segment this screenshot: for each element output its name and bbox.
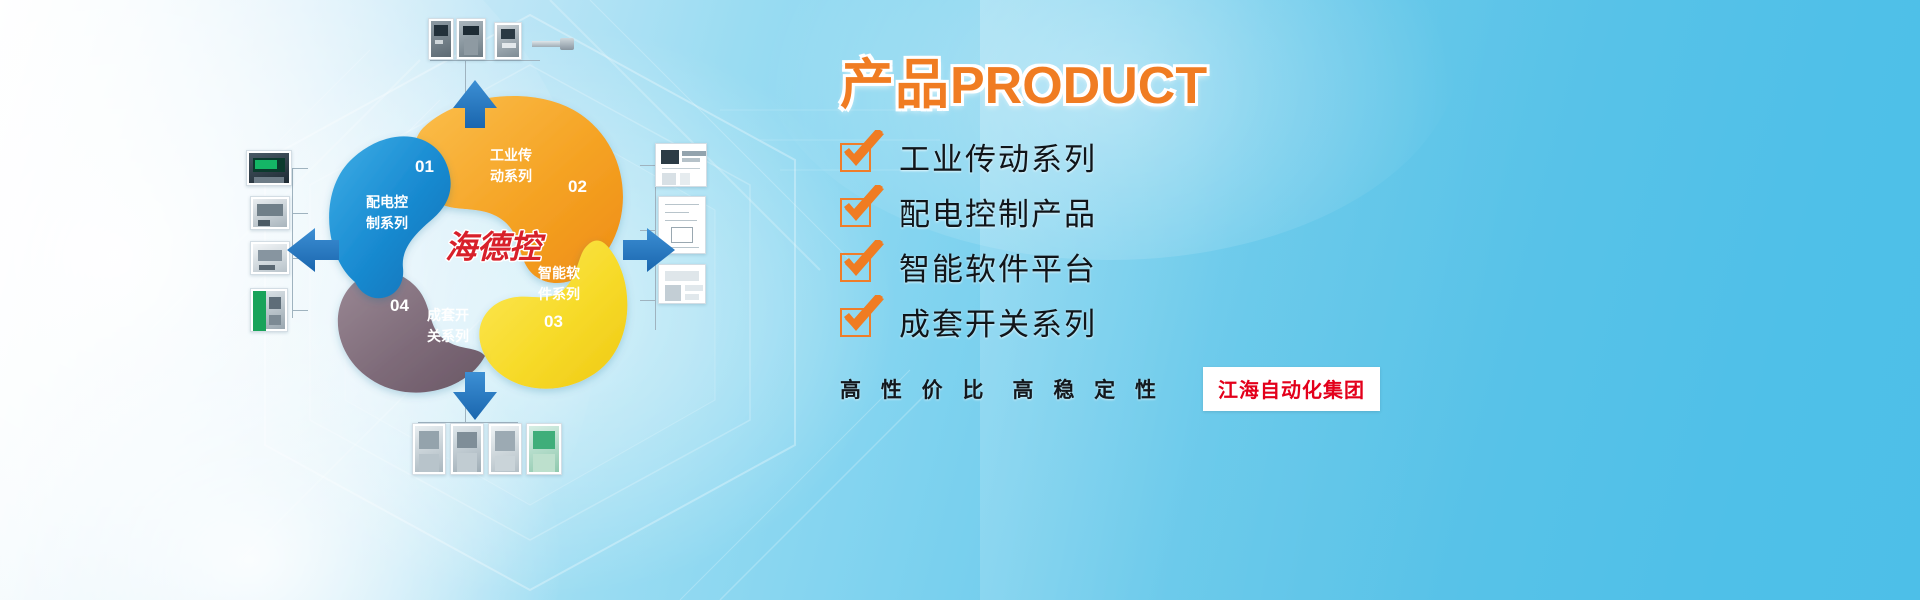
segment-number-03: 03	[544, 312, 563, 331]
right-content-panel: 产品PRODUCT 工业传动系列	[840, 58, 1600, 528]
segment-number-01: 01	[415, 157, 434, 176]
segment-label-02-line2: 件系列	[538, 286, 580, 302]
checkbox-checked-icon	[840, 251, 873, 282]
product-cycle-diagram: 01 02 03 04 工业传 动系列 智能软 件系列 成套开 关系列 配电控 …	[205, 0, 765, 600]
brand-badge: 江海自动化集团	[1203, 367, 1380, 411]
arrow-right-icon	[623, 228, 675, 272]
product-checklist: 工业传动系列 配电控制产品	[840, 132, 1600, 345]
page-title-english: PRODUCT	[950, 57, 1207, 115]
checkbox-checked-icon	[840, 141, 873, 172]
segment-number-04: 04	[390, 296, 409, 315]
segment-label-02-line1: 智能软	[537, 265, 581, 281]
checklist-item-1[interactable]: 工业传动系列	[840, 132, 1600, 180]
segment-label-01-line1: 工业传	[490, 147, 532, 163]
page-title-chinese: 产品	[840, 55, 950, 115]
segment-number-02: 02	[568, 177, 587, 196]
checklist-item-3[interactable]: 智能软件平台	[840, 242, 1600, 290]
tagline-row: 高 性 价 比高 稳 定 性 江海自动化集团	[840, 367, 1600, 411]
tagline-part-1: 高 性 价 比	[840, 379, 991, 402]
checklist-item-label: 成套开关系列	[899, 299, 1097, 344]
segment-label-03-line1: 成套开	[427, 307, 469, 323]
checklist-item-2[interactable]: 配电控制产品	[840, 187, 1600, 235]
checkbox-checked-icon	[840, 196, 873, 227]
page-title: 产品PRODUCT	[840, 58, 1600, 112]
segment-label-03-line2: 关系列	[427, 328, 469, 344]
product-banner: 01 02 03 04 工业传 动系列 智能软 件系列 成套开 关系列 配电控 …	[0, 0, 1920, 600]
tagline-part-2: 高 稳 定 性	[1013, 379, 1164, 402]
segment-label-04-line1: 配电控	[366, 194, 408, 210]
diagram-center-text: 海德控	[445, 229, 546, 265]
tagline-text: 高 性 价 比高 稳 定 性	[840, 374, 1163, 404]
checklist-item-label: 工业传动系列	[899, 134, 1097, 179]
checkbox-checked-icon	[840, 306, 873, 337]
checklist-item-label: 智能软件平台	[899, 244, 1097, 289]
checklist-item-4[interactable]: 成套开关系列	[840, 297, 1600, 345]
segment-label-04-line2: 制系列	[366, 215, 408, 231]
segment-label-01-line2: 动系列	[490, 168, 532, 184]
checklist-item-label: 配电控制产品	[899, 189, 1097, 234]
